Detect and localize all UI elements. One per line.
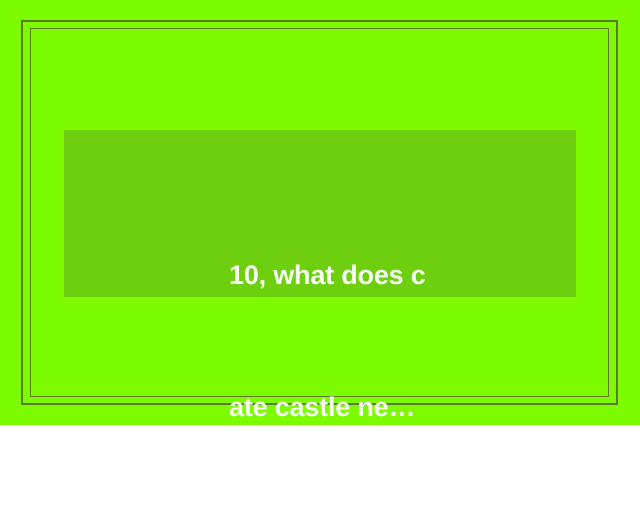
caption-panel: 10, what does c ate castle ne… [64, 130, 576, 297]
caption-line-2: ate castle ne… [229, 385, 559, 429]
caption-text-block: 10, what does c ate castle ne… [229, 165, 559, 517]
screenshot-canvas: 10, what does c ate castle ne… [0, 0, 640, 425]
caption-line-1: 10, what does c [229, 253, 559, 297]
